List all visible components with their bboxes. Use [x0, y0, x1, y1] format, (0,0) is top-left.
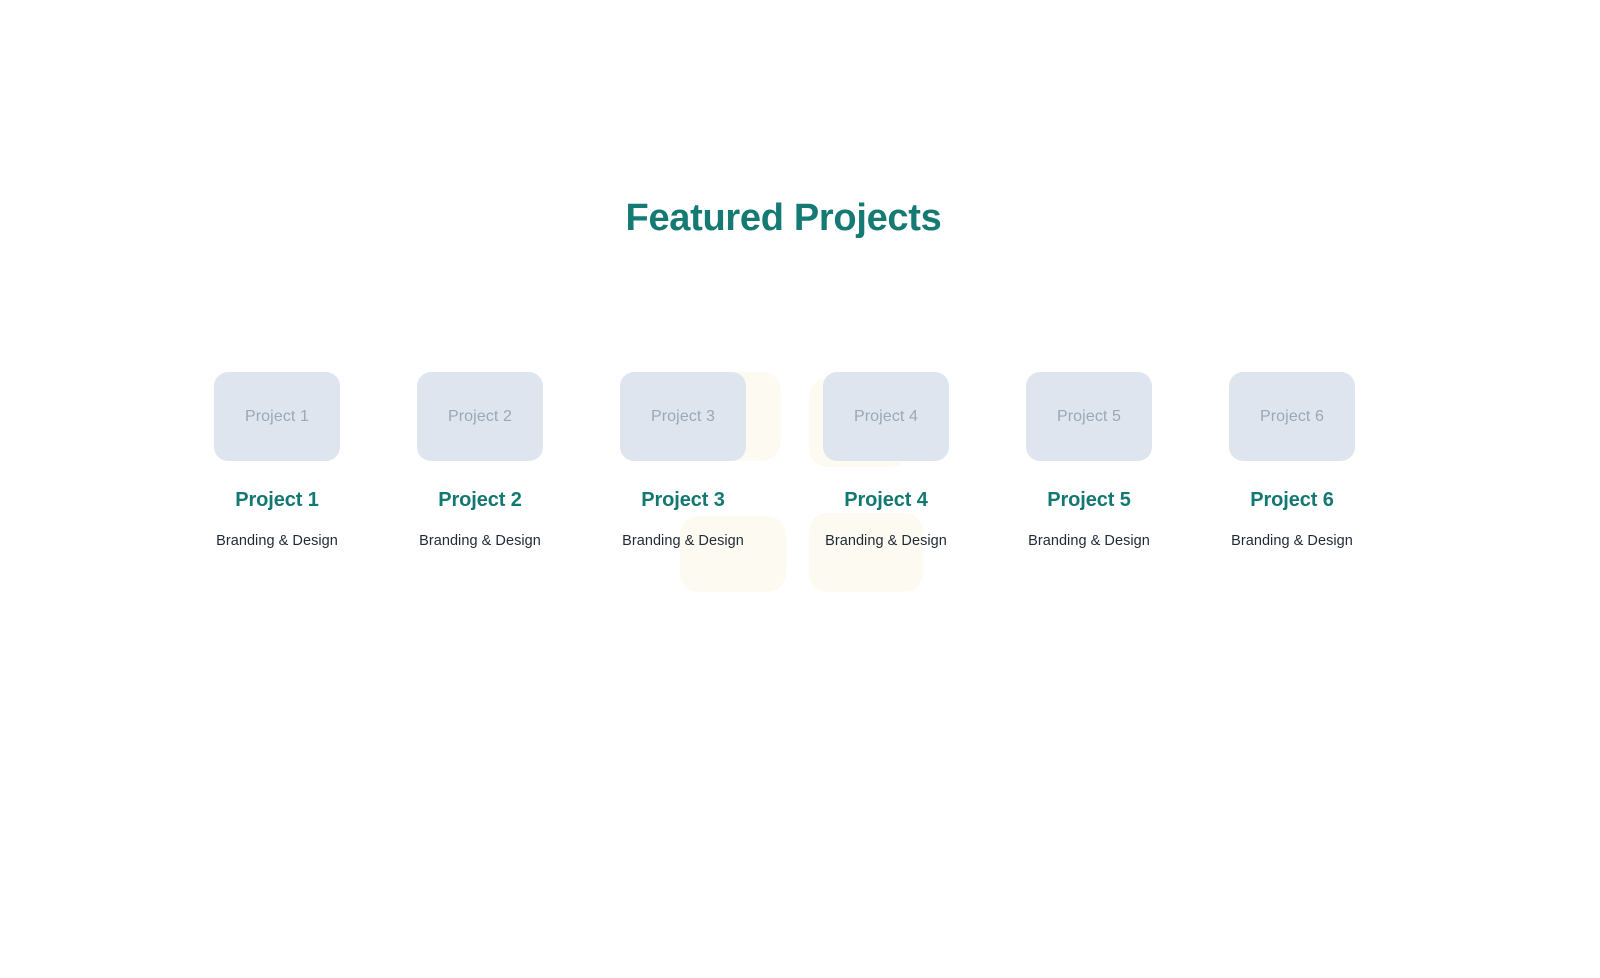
project-thumbnail-label: Project 6 — [1260, 408, 1324, 426]
project-card-1[interactable]: Project 1 Project 1 Branding & Design — [214, 372, 340, 551]
project-card-6[interactable]: Project 6 Project 6 Branding & Design — [1229, 372, 1355, 551]
project-category: Branding & Design — [417, 531, 543, 551]
project-card-3[interactable]: Project 3 Project 3 Branding & Design — [620, 372, 746, 551]
project-thumbnail-label: Project 3 — [651, 408, 715, 426]
project-thumbnail-1[interactable]: Project 1 — [214, 372, 340, 461]
project-category: Branding & Design — [823, 531, 949, 551]
project-thumbnail-2[interactable]: Project 2 — [417, 372, 543, 461]
project-card-2[interactable]: Project 2 Project 2 Branding & Design — [417, 372, 543, 551]
project-category: Branding & Design — [1229, 531, 1355, 551]
project-thumbnail-4[interactable]: Project 4 — [823, 372, 949, 461]
project-title: Project 2 — [417, 488, 543, 512]
project-card-4[interactable]: Project 4 Project 4 Branding & Design — [823, 372, 949, 551]
project-thumbnail-3[interactable]: Project 3 — [620, 372, 746, 461]
project-thumbnail-label: Project 4 — [854, 408, 918, 426]
project-title: Project 3 — [620, 488, 746, 512]
page-root: Featured Projects Project 1 Project 1 Br… — [0, 0, 1600, 978]
decorative-shape-lower — [809, 513, 923, 592]
page-title: Featured Projects — [0, 192, 1567, 244]
project-thumbnail-6[interactable]: Project 6 — [1229, 372, 1355, 461]
project-thumbnail-5[interactable]: Project 5 — [1026, 372, 1152, 461]
project-thumbnail-label: Project 5 — [1057, 408, 1121, 426]
project-title: Project 6 — [1229, 488, 1355, 512]
project-thumbnail-label: Project 1 — [245, 408, 309, 426]
project-title: Project 5 — [1026, 488, 1152, 512]
project-category: Branding & Design — [1026, 531, 1152, 551]
project-thumbnail-label: Project 2 — [448, 408, 512, 426]
decorative-shape-lower — [680, 516, 786, 592]
featured-projects-list: Project 1 Project 1 Branding & Design Pr… — [214, 372, 1390, 602]
project-title: Project 1 — [214, 488, 340, 512]
project-title: Project 4 — [823, 488, 949, 512]
project-category: Branding & Design — [620, 531, 746, 551]
project-category: Branding & Design — [214, 531, 340, 551]
project-card-5[interactable]: Project 5 Project 5 Branding & Design — [1026, 372, 1152, 551]
